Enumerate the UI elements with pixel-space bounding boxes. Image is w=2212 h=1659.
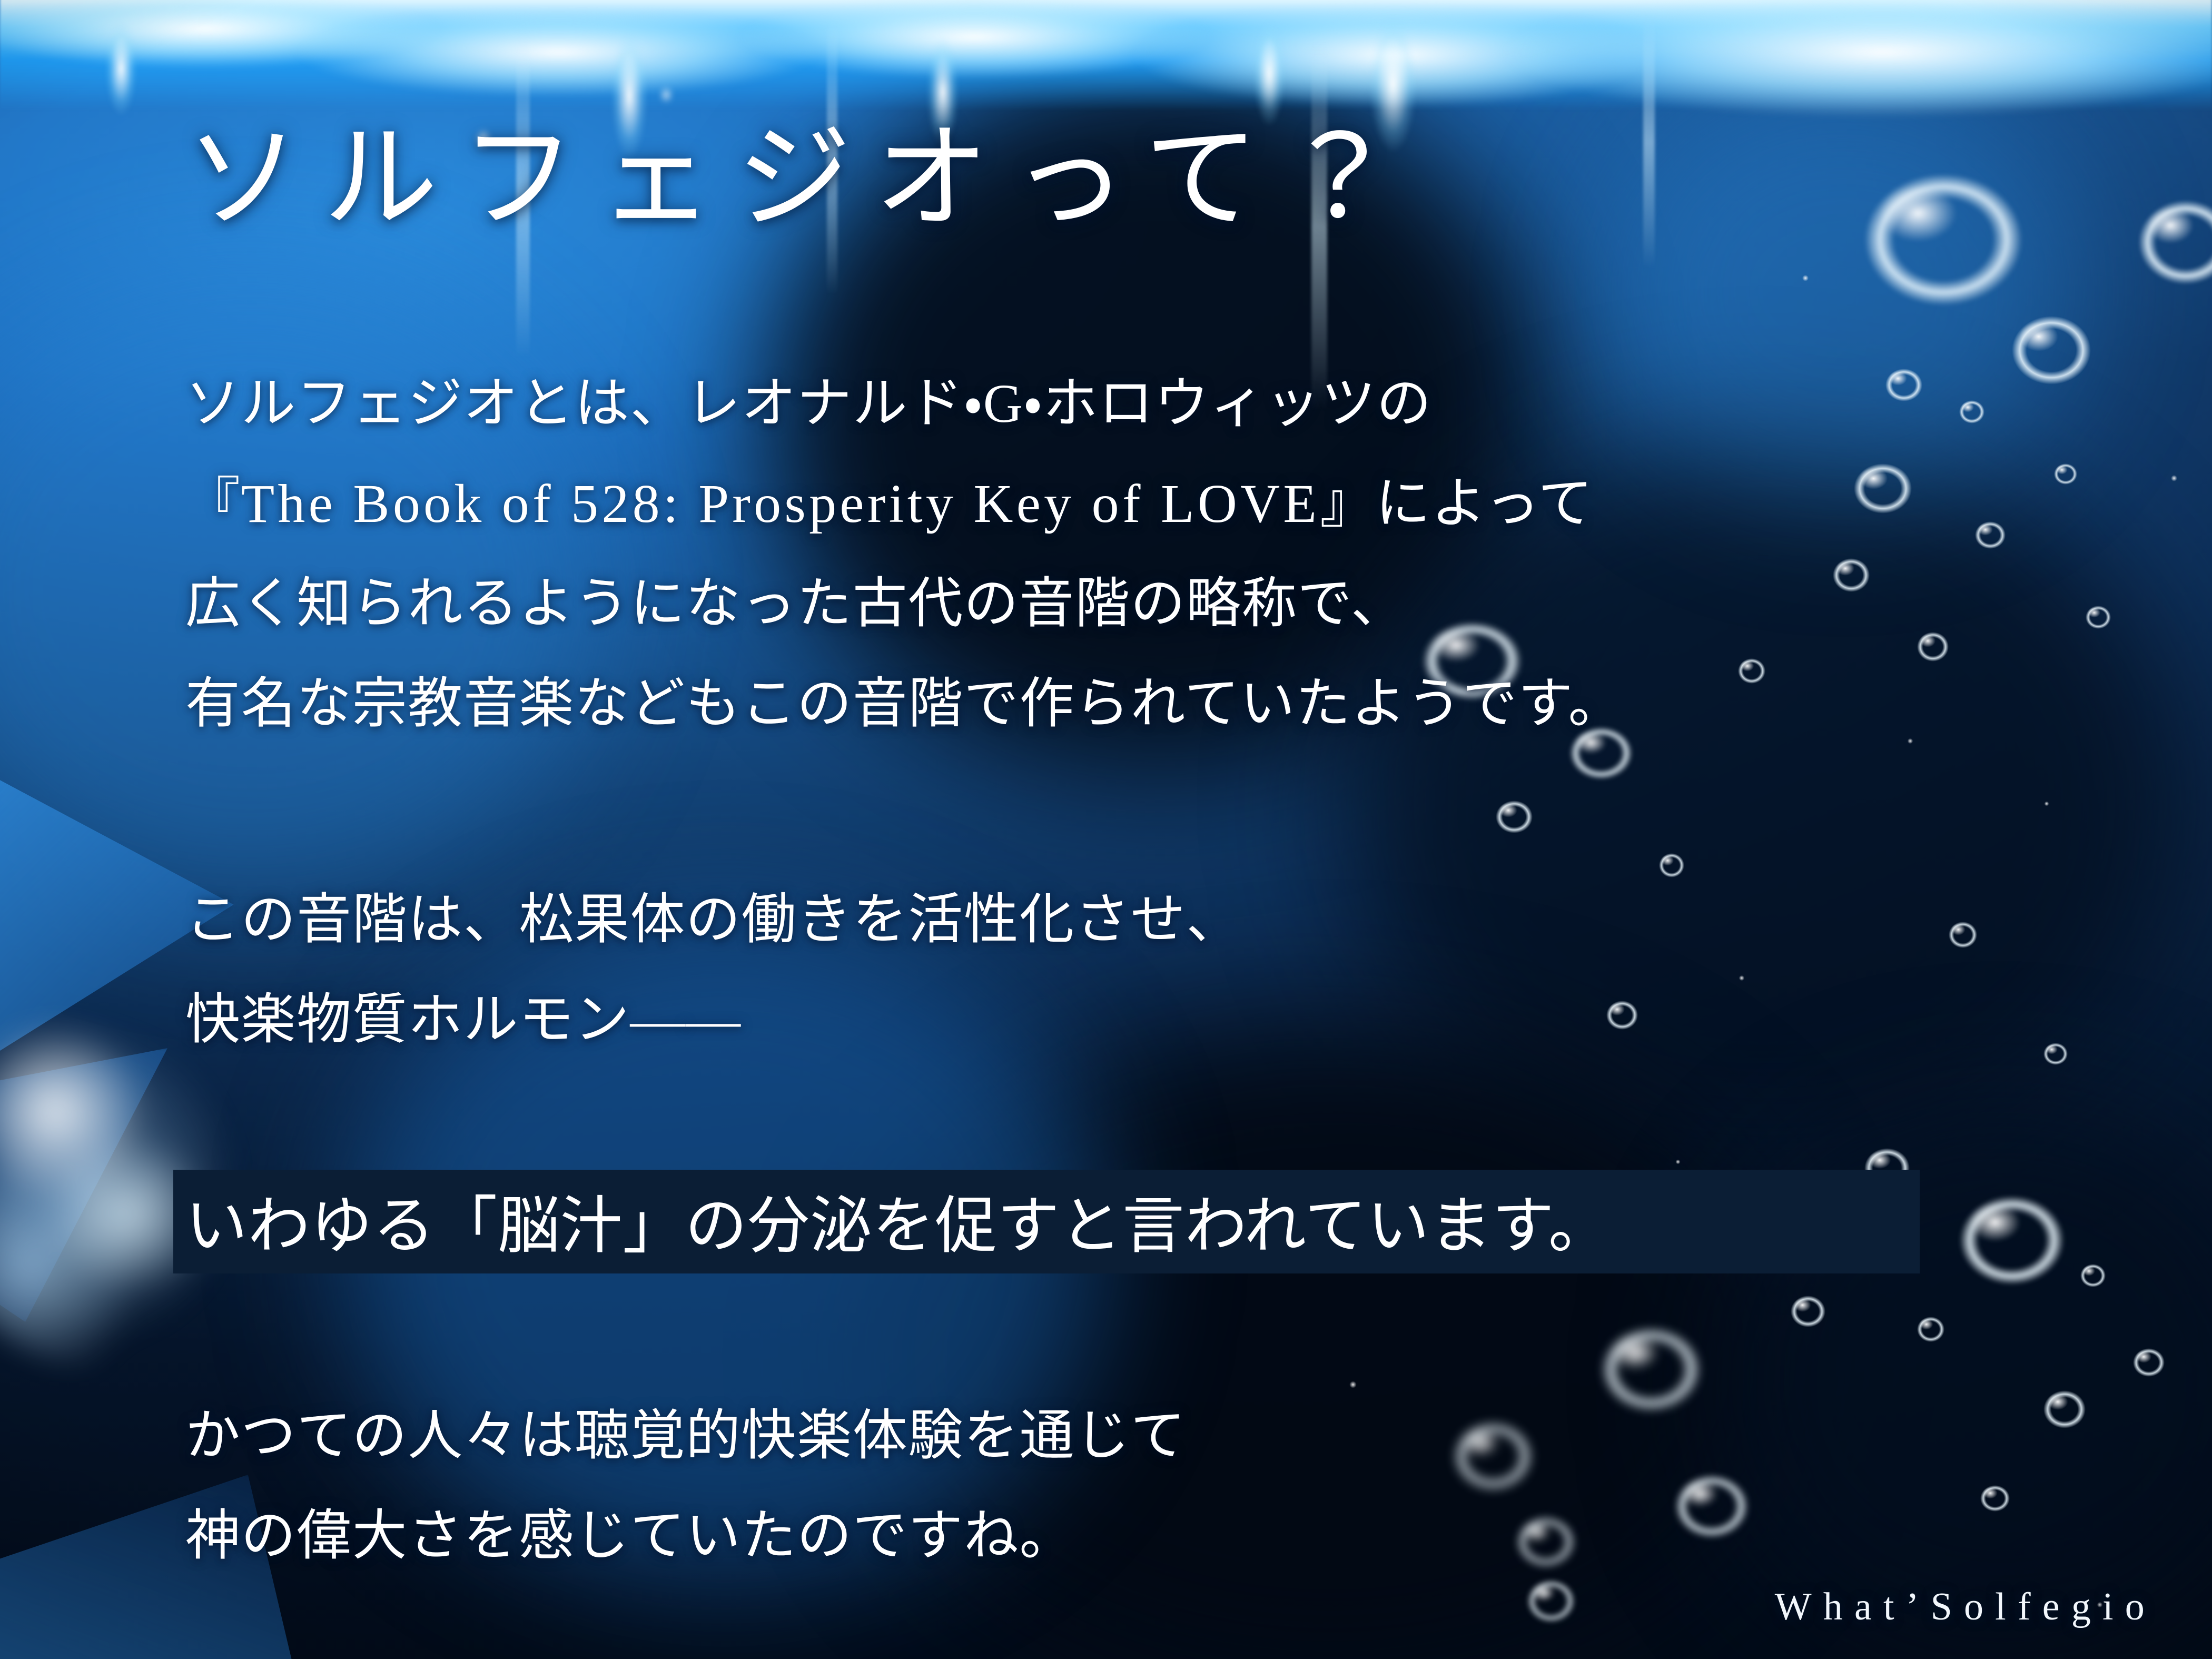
paragraph-1: ソルフェジオとは、レオナルド・G・ホロウィッツの 『The Book of 52…: [185, 354, 1624, 754]
quote-close: 』によって: [1320, 473, 1593, 534]
slide-content: ソルフェジオって？ ソルフェジオとは、レオナルド・G・ホロウィッツの 『The …: [0, 0, 2212, 1659]
paragraph-1-line-3: 広く知られるようになった古代の音階の略称で、: [185, 554, 1624, 654]
book-title: The Book of 528: Prosperity Key of LOVE: [241, 473, 1320, 534]
paragraph-2-line-2: 快楽物質ホルモン——: [185, 970, 1242, 1070]
paragraph-2: この音階は、松果体の働きを活性化させ、 快楽物質ホルモン——: [185, 870, 1242, 1070]
paragraph-1-line-2: 『The Book of 528: Prosperity Key of LOVE…: [185, 454, 1624, 554]
highlight-statement: いわゆる「脳汁」の分泌を促すと言われています。: [185, 1168, 1918, 1272]
paragraph-1-line-1: ソルフェジオとは、レオナルド・G・ホロウィッツの: [185, 354, 1624, 454]
paragraph-2-line-1: この音階は、松果体の働きを活性化させ、: [185, 870, 1242, 970]
paragraph-3: かつての人々は聴覚的快楽体験を通じて 神の偉大さを感じていたのですね。: [185, 1386, 1186, 1586]
slide-root: ソルフェジオって？ ソルフェジオとは、レオナルド・G・ホロウィッツの 『The …: [0, 0, 2212, 1659]
page-title: ソルフェジオって？: [185, 122, 1420, 237]
slide-footer-label: What’Solfegio: [1775, 1585, 2156, 1630]
paragraph-1-line-4: 有名な宗教音楽などもこの音階で作られていたようです。: [185, 654, 1624, 754]
paragraph-3-line-1: かつての人々は聴覚的快楽体験を通じて: [185, 1386, 1186, 1486]
paragraph-3-line-2: 神の偉大さを感じていたのですね。: [185, 1486, 1186, 1586]
quote-open: 『: [185, 473, 241, 534]
